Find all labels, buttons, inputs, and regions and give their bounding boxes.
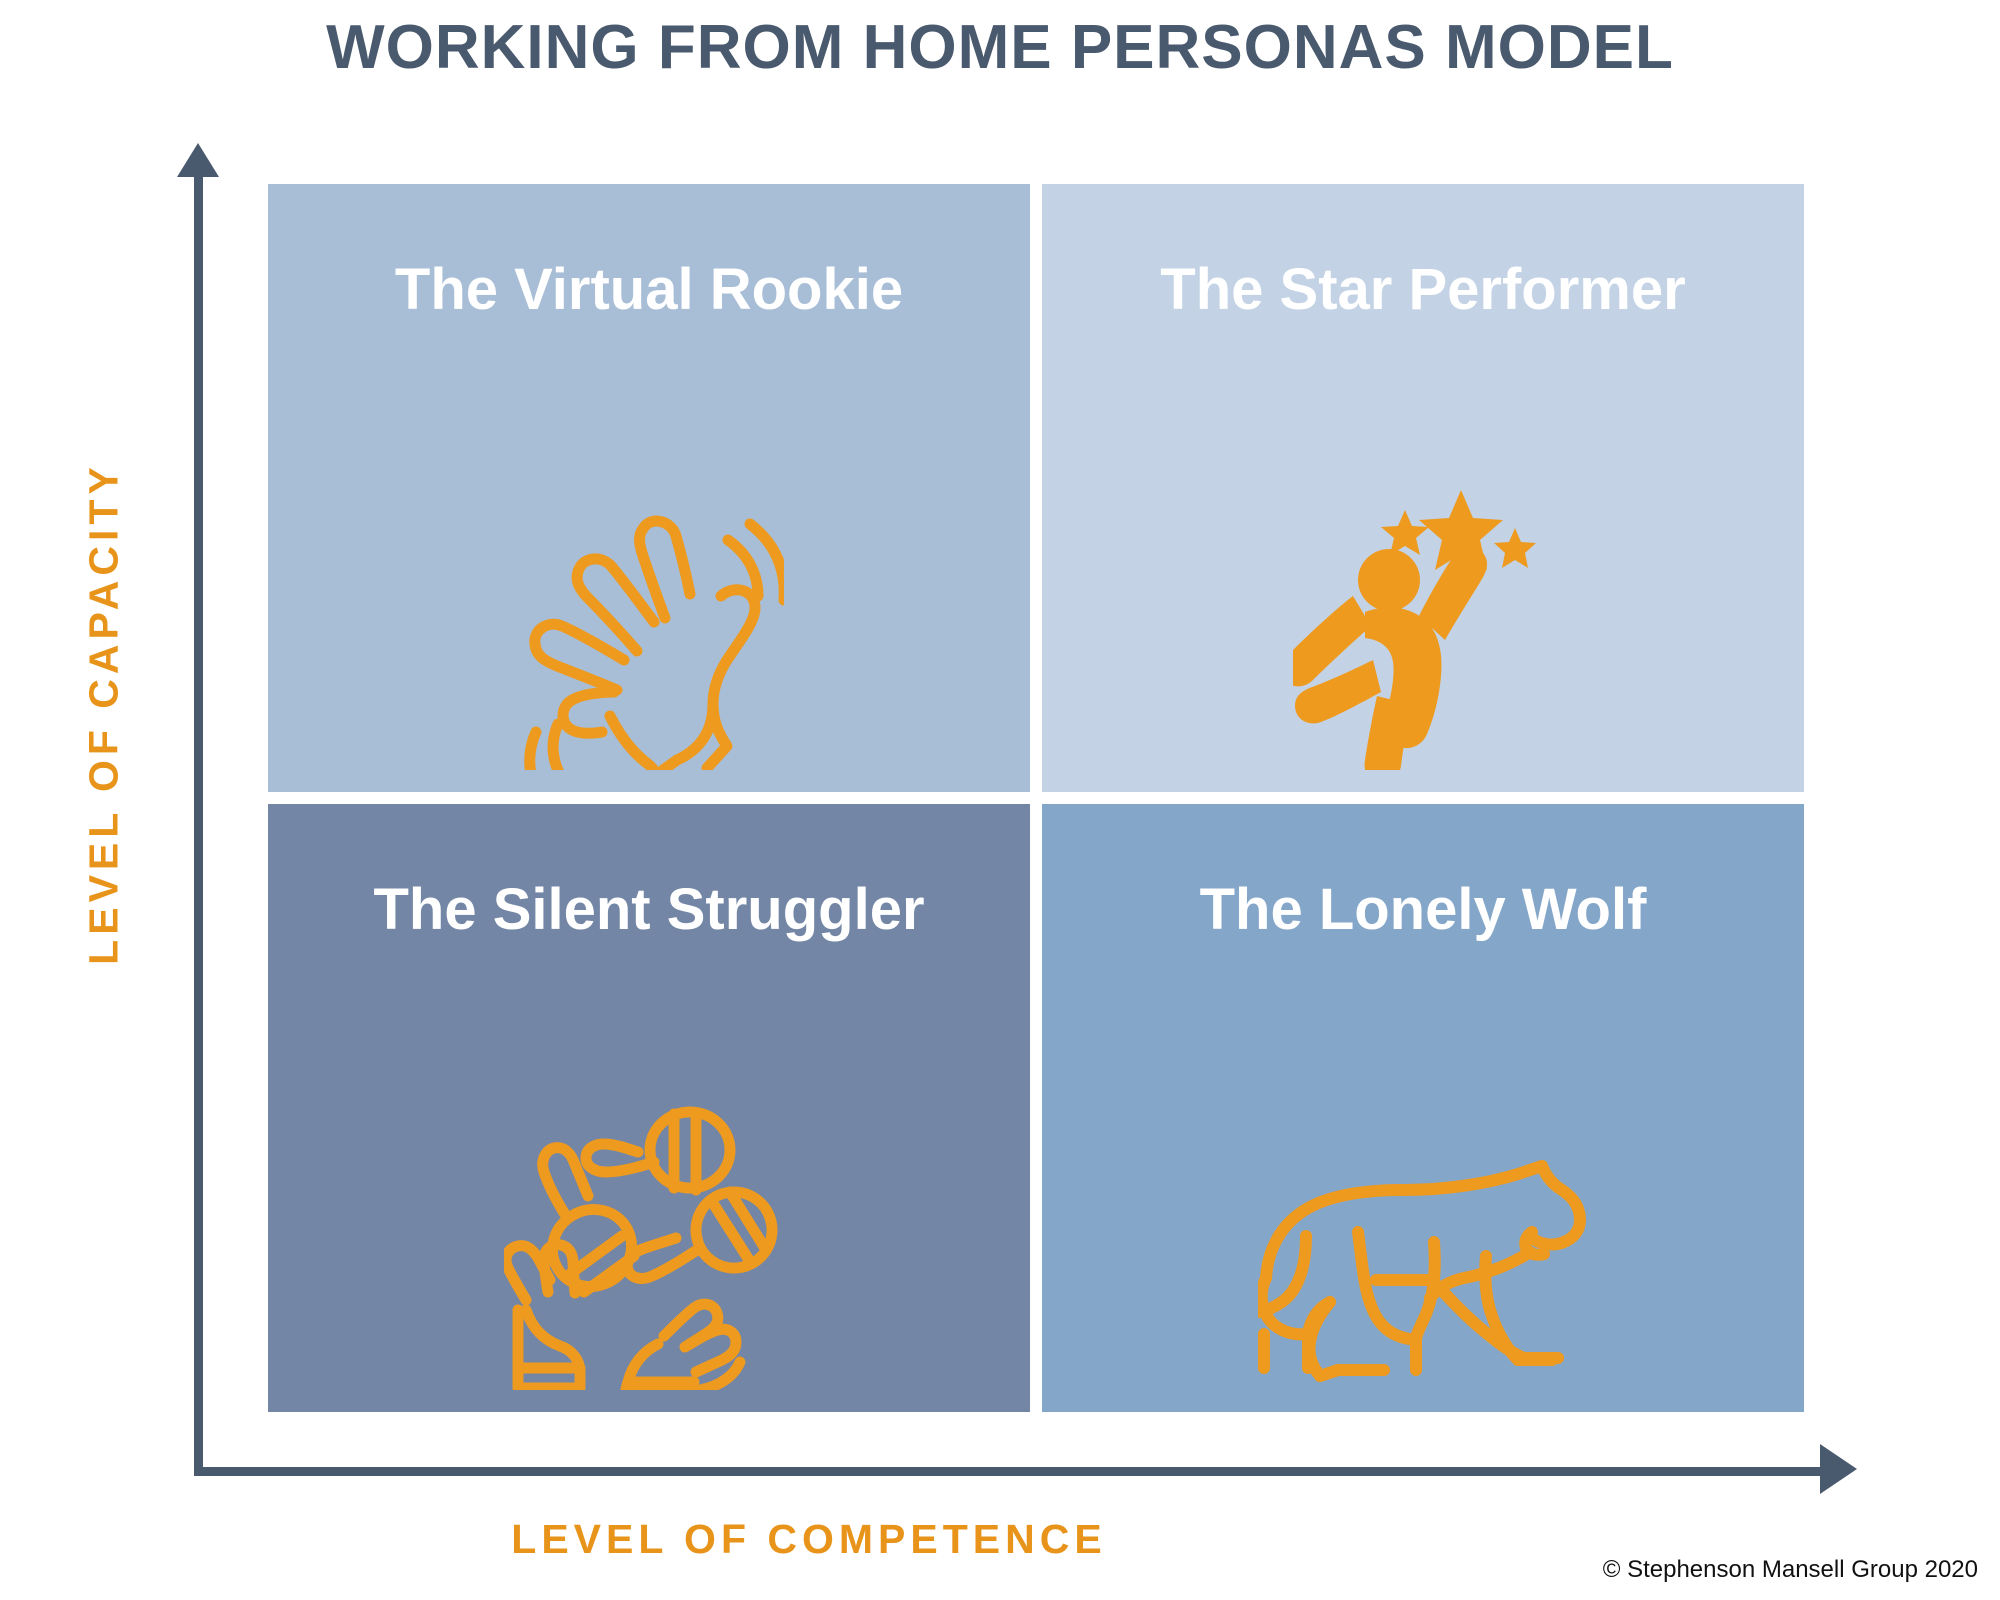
y-axis-label: LEVEL OF CAPACITY <box>81 434 128 994</box>
quadrant-lonely-wolf[interactable]: The Lonely Wolf <box>1042 804 1804 1412</box>
quadrant-star-performer[interactable]: The Star Performer <box>1042 184 1804 792</box>
quadrant-label-virtual-rookie: The Virtual Rookie <box>268 252 1030 329</box>
x-axis-label: LEVEL OF COMPETENCE <box>194 1516 1424 1563</box>
quadrant-icon-wrap <box>268 1090 1030 1390</box>
copyright-notice: © Stephenson Mansell Group 2020 <box>1603 1556 1978 1584</box>
quadrant-virtual-rookie[interactable]: The Virtual Rookie <box>268 184 1030 792</box>
quadrant-icon-wrap <box>268 470 1030 770</box>
page-title: WORKING FROM HOME PERSONAS MODEL <box>0 14 2000 82</box>
quadrant-label-silent-struggler: The Silent Struggler <box>268 872 1030 949</box>
star-performer-icon <box>1293 480 1553 770</box>
y-axis-line <box>194 158 203 1476</box>
waving-hand-icon <box>514 510 784 770</box>
wolf-icon <box>1258 1160 1588 1390</box>
x-axis-line <box>194 1467 1825 1476</box>
quadrant-silent-struggler[interactable]: The Silent Struggler <box>268 804 1030 1412</box>
quadrant-matrix: The Virtual Rookie <box>268 184 1804 1412</box>
quadrant-icon-wrap <box>1042 470 1804 770</box>
juggling-hands-icon <box>504 1100 794 1390</box>
quadrant-icon-wrap <box>1042 1090 1804 1390</box>
quadrant-label-lonely-wolf: The Lonely Wolf <box>1042 872 1804 949</box>
y-axis-arrow-icon <box>177 143 219 177</box>
quadrant-label-star-performer: The Star Performer <box>1042 252 1804 329</box>
x-axis-arrow-icon <box>1820 1444 1857 1494</box>
